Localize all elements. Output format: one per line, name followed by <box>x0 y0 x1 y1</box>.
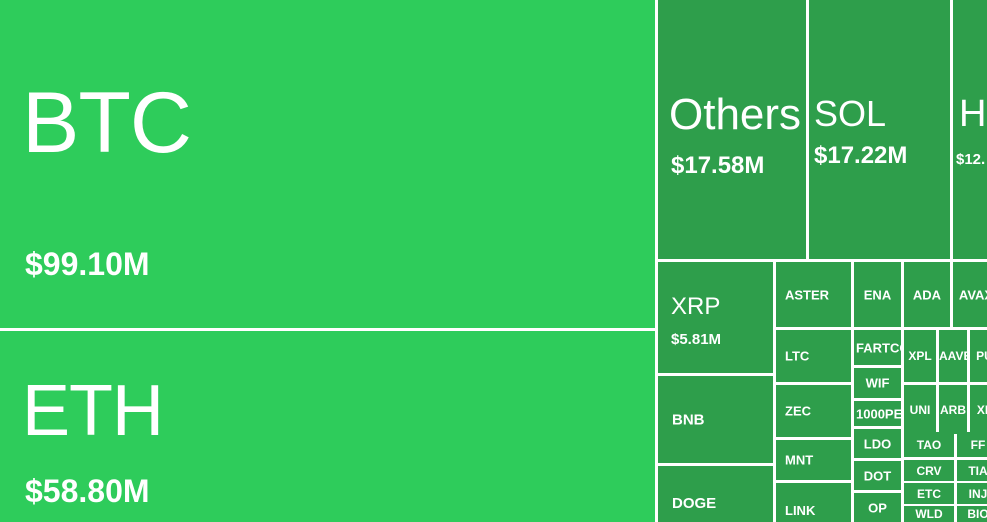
treemap-tile-bio[interactable]: BIO <box>957 506 987 522</box>
treemap-tile-xpl[interactable]: XPL <box>904 330 936 382</box>
treemap-tile-aster[interactable]: ASTER <box>776 262 851 327</box>
treemap-tile-ada[interactable]: ADA <box>904 262 950 327</box>
treemap-tile-label: AAVE <box>939 350 967 362</box>
treemap-tile-label: ZEC <box>785 405 811 418</box>
treemap-tile-ltc[interactable]: LTC <box>776 330 851 382</box>
treemap-tile-value: $17.58M <box>671 154 764 178</box>
treemap-tile-xl[interactable]: XL <box>970 385 987 434</box>
treemap-tile-label: WIF <box>854 377 901 390</box>
treemap-tile-label: BNB <box>672 412 705 427</box>
treemap-tile-label: TIA <box>957 465 987 477</box>
treemap-tile-label: HY <box>959 95 987 133</box>
treemap-tile-label: LINK <box>785 504 815 517</box>
treemap-tile-label: ETC <box>904 488 954 500</box>
treemap-tile-wld[interactable]: WLD <box>904 506 954 522</box>
treemap-tile-pu[interactable]: PU <box>970 330 987 382</box>
treemap-tile-label: WLD <box>904 508 954 520</box>
treemap-tile-uni[interactable]: UNI <box>904 385 936 434</box>
treemap-tile-value: $12. <box>956 152 985 167</box>
treemap-tile-label: BIO <box>957 508 987 520</box>
treemap-tile-pepe[interactable]: 1000PEPE <box>854 401 901 426</box>
treemap-tile-bnb[interactable]: BNB <box>658 376 773 463</box>
treemap-tile-value: $17.22M <box>814 144 907 168</box>
treemap-tile-label: BTC <box>22 80 191 166</box>
treemap-tile-label: ENA <box>854 288 901 301</box>
treemap-tile-value: $5.81M <box>671 332 721 347</box>
treemap-tile-doge[interactable]: DOGE <box>658 466 773 522</box>
treemap-tile-ff[interactable]: FF <box>957 432 987 457</box>
treemap-tile-label: MNT <box>785 454 813 467</box>
treemap-tile-tao[interactable]: TAO <box>904 432 954 457</box>
treemap-tile-crv[interactable]: CRV <box>904 460 954 481</box>
treemap-tile-label: 1000PEPE <box>856 407 901 420</box>
treemap-tile-dot[interactable]: DOT <box>854 461 901 490</box>
treemap-tile-others[interactable]: Others $17.58M <box>658 0 806 259</box>
treemap-tile-label: DOT <box>854 469 901 482</box>
treemap-tile-value: $99.10M <box>25 248 150 280</box>
treemap-tile-label: CRV <box>904 465 954 477</box>
treemap-tile-label: LTC <box>785 350 809 363</box>
treemap-tile-label: XPL <box>904 350 936 362</box>
treemap-tile-mnt[interactable]: MNT <box>776 440 851 480</box>
treemap-tile-fartcoin[interactable]: FARTCOIN <box>854 330 901 365</box>
treemap-tile-hy[interactable]: HY $12. <box>953 0 987 259</box>
treemap-tile-btc[interactable]: BTC $99.10M <box>0 0 655 328</box>
treemap-tile-etc[interactable]: ETC <box>904 483 954 504</box>
treemap-tile-label: TAO <box>904 439 954 451</box>
treemap-tile-label: UNI <box>904 404 936 416</box>
treemap-tile-label: FF <box>957 439 987 451</box>
treemap-tile-label: LDO <box>854 437 901 450</box>
treemap-tile-label: Others <box>669 93 801 137</box>
treemap-tile-inj[interactable]: INJ <box>957 483 987 504</box>
treemap-tile-ena[interactable]: ENA <box>854 262 901 327</box>
treemap-tile-label: ARB <box>939 404 967 416</box>
treemap-tile-sol[interactable]: SOL $17.22M <box>809 0 950 259</box>
treemap-tile-tia[interactable]: TIA <box>957 460 987 481</box>
treemap-tile-label: XRP <box>671 295 720 319</box>
treemap-tile-wif[interactable]: WIF <box>854 368 901 398</box>
treemap-tile-label: PU <box>970 350 987 362</box>
treemap-tile-zec[interactable]: ZEC <box>776 385 851 437</box>
treemap-tile-eth[interactable]: ETH $58.80M <box>0 331 655 522</box>
treemap-tile-link[interactable]: LINK <box>776 483 851 522</box>
treemap-tile-label: XL <box>970 404 987 416</box>
treemap-tile-ldo[interactable]: LDO <box>854 429 901 458</box>
treemap-tile-xrp[interactable]: XRP $5.81M <box>658 262 773 373</box>
treemap-tile-label: FARTCOIN <box>856 341 901 354</box>
treemap-tile-arb[interactable]: ARB <box>939 385 967 434</box>
treemap-tile-label: INJ <box>957 488 987 500</box>
treemap-tile-label: AVAX <box>953 288 987 301</box>
treemap-tile-op[interactable]: OP <box>854 493 901 522</box>
treemap-tile-aave[interactable]: AAVE <box>939 330 967 382</box>
treemap-tile-label: SOL <box>814 96 886 132</box>
treemap-tile-label: ADA <box>904 288 950 301</box>
treemap-tile-avax[interactable]: AVAX <box>953 262 987 327</box>
treemap-chart: BTC $99.10M ETH $58.80M Others $17.58M S… <box>0 0 987 522</box>
treemap-tile-label: OP <box>854 501 901 514</box>
treemap-tile-value: $58.80M <box>25 475 150 507</box>
treemap-tile-label: DOGE <box>672 496 716 511</box>
treemap-tile-label: ASTER <box>785 288 829 301</box>
treemap-tile-label: ETH <box>22 375 163 447</box>
